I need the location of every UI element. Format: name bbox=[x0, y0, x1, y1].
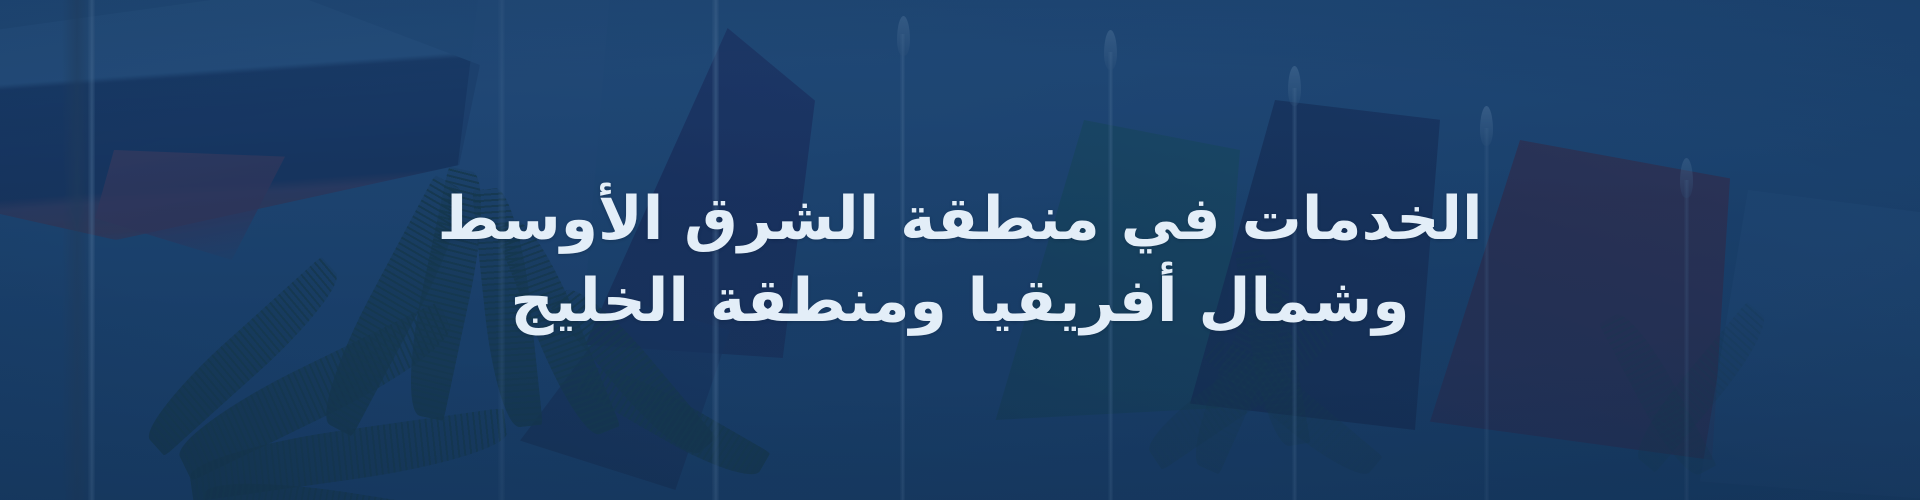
heading-line-1: الخدمات في منطقة الشرق الأوسط bbox=[437, 182, 1482, 258]
heading-line-2: وشمال أفريقيا ومنطقة الخليج bbox=[510, 264, 1409, 340]
banner-heading: الخدمات في منطقة الشرق الأوسط وشمال أفري… bbox=[0, 0, 1920, 500]
hero-banner: الخدمات في منطقة الشرق الأوسط وشمال أفري… bbox=[0, 0, 1920, 500]
